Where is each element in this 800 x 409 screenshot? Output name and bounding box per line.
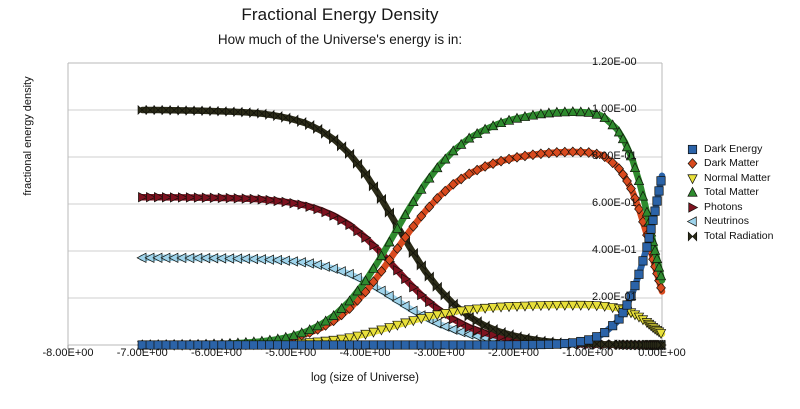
data-marker	[688, 188, 697, 197]
data-marker	[687, 217, 696, 226]
legend-item-label: Photons	[704, 201, 743, 214]
data-marker	[600, 328, 608, 336]
triangle-right-icon	[686, 201, 699, 214]
x-axis-title: log (size of Universe)	[68, 372, 662, 384]
x-tick-label: 0.00E+00	[627, 347, 697, 359]
data-marker	[585, 336, 593, 344]
data-marker	[651, 207, 659, 215]
triangle-down-icon	[686, 172, 699, 185]
plot-area: fractional energy density log (size of U…	[0, 0, 800, 404]
legend-item-label: Dark Matter	[704, 157, 759, 170]
legend-item-neutrinos[interactable]: Neutrinos	[686, 215, 773, 230]
legend-item-photons[interactable]: Photons	[686, 200, 773, 215]
data-marker	[653, 197, 661, 205]
y-tick-label: 1.20E-00	[592, 56, 637, 68]
data-marker	[688, 174, 697, 183]
x-tick-label: -8.00E+00	[33, 347, 103, 359]
y-tick-label: 6.00E-01	[592, 197, 637, 209]
y-axis-title: fractional energy density	[22, 46, 34, 226]
data-marker	[688, 159, 697, 169]
data-marker	[635, 270, 643, 278]
data-marker	[643, 243, 651, 251]
legend-item-label: Normal Matter	[704, 172, 771, 185]
x-tick-label: -2.00E+00	[479, 347, 549, 359]
data-marker	[639, 257, 647, 265]
triangle-left-icon	[686, 215, 699, 228]
legend-item-label: Dark Energy	[704, 143, 762, 156]
legend-item-label: Neutrinos	[704, 215, 749, 228]
triangle-up-icon	[686, 186, 699, 199]
data-marker	[688, 232, 696, 240]
data-marker	[647, 225, 655, 233]
data-marker	[657, 177, 665, 185]
legend-item-label: Total Radiation	[704, 230, 773, 243]
legend-item-normal-matter[interactable]: Normal Matter	[686, 171, 773, 186]
diamond-icon	[686, 157, 699, 170]
legend-item-total-radiation[interactable]: Total Radiation	[686, 229, 773, 244]
data-marker	[689, 203, 698, 212]
y-tick-label: 2.00E-01	[592, 291, 637, 303]
x-tick-label: -4.00E+00	[330, 347, 400, 359]
data-marker	[645, 234, 653, 242]
data-marker	[619, 308, 627, 316]
bowtie-icon	[686, 230, 699, 243]
y-tick-label: 1.00E-00	[592, 103, 637, 115]
chart-legend: Dark EnergyDark MatterNormal MatterTotal…	[686, 142, 773, 244]
x-tick-label: -7.00E+00	[107, 347, 177, 359]
legend-item-dark-energy[interactable]: Dark Energy	[686, 142, 773, 157]
data-marker	[577, 337, 585, 345]
data-marker	[649, 216, 657, 224]
data-marker	[569, 339, 577, 347]
data-marker	[688, 145, 696, 153]
x-tick-label: -5.00E+00	[256, 347, 326, 359]
data-marker	[568, 147, 577, 157]
y-tick-label: 4.00E-01	[592, 244, 637, 256]
square-icon	[686, 143, 699, 156]
data-marker	[593, 333, 601, 341]
data-marker	[576, 147, 585, 157]
chart-canvas	[0, 0, 800, 404]
data-marker	[655, 187, 663, 195]
data-marker	[631, 281, 639, 289]
x-tick-label: -3.00E+00	[404, 347, 474, 359]
legend-item-dark-matter[interactable]: Dark Matter	[686, 157, 773, 172]
x-tick-label: -6.00E+00	[182, 347, 252, 359]
legend-item-total-matter[interactable]: Total Matter	[686, 186, 773, 201]
series-line	[142, 110, 662, 345]
y-tick-label: 8.00E-01	[592, 150, 637, 162]
x-tick-label: -1.00E+00	[553, 347, 623, 359]
data-marker	[560, 147, 569, 157]
chart-page: Fractional Energy Density How much of th…	[0, 0, 800, 404]
legend-item-label: Total Matter	[704, 186, 759, 199]
